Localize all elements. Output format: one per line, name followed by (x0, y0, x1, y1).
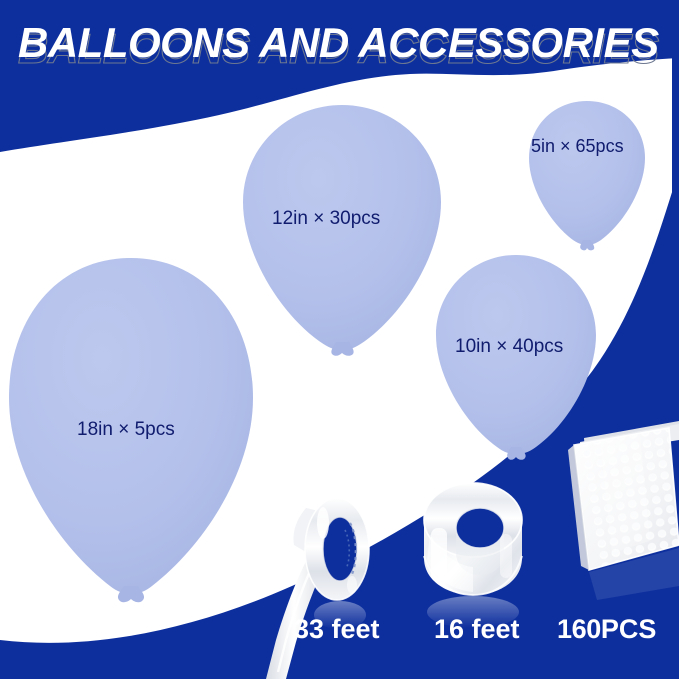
tape-roll-caption: 16 feet (434, 616, 520, 643)
infographic-artwork: BALLOONS AND ACCESSORIES (0, 0, 679, 679)
balloon-10in-label: 10in × 40pcs (455, 337, 563, 356)
glue-dots-caption: 160PCS (557, 616, 656, 643)
glue-dots-unit: PCS (601, 614, 657, 644)
ribbon-roll-caption: 33 feet (294, 616, 380, 643)
balloon-12in-label: 12in × 30pcs (272, 209, 380, 228)
product-infographic: BALLOONS AND ACCESSORIES BALLOONS AND AC… (0, 0, 679, 679)
balloon-18in-label: 18in × 5pcs (77, 420, 175, 439)
tape-roll-icon (424, 483, 522, 628)
title-outline-stroke: BALLOONS AND ACCESSORIES (18, 25, 659, 72)
glue-dots-count: 160 (557, 614, 601, 644)
balloon-5in-label: 5in × 65pcs (531, 137, 624, 155)
